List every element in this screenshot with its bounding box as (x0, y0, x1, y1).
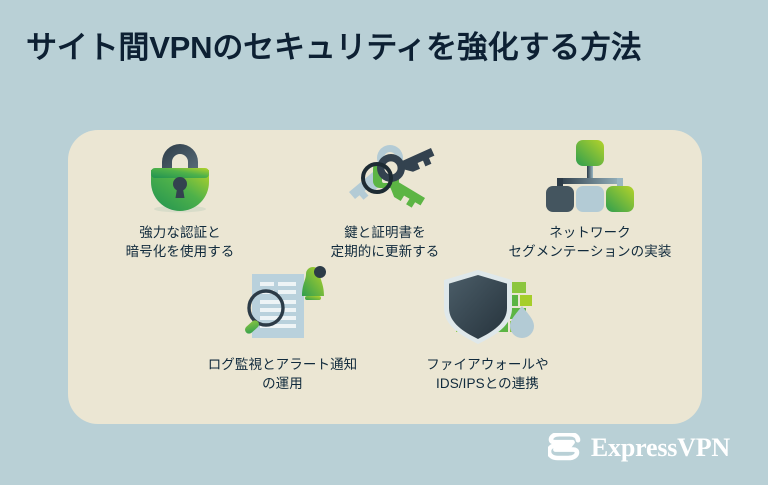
log-monitoring-alert-icon (228, 272, 338, 346)
tip-item-strong-auth: 強力な認証と 暗号化を使用する (78, 140, 283, 261)
network-segmentation-icon (535, 140, 645, 214)
tip-item-firewall-ids-ips: ファイアウォールや IDS/IPSとの連携 (385, 272, 590, 393)
tips-row-bottom: ログ監視とアラート通知 の運用 (133, 272, 637, 393)
expressvpn-logo-icon (548, 433, 582, 463)
tip-item-network-segmentation: ネットワーク セグメンテーションの実装 (488, 140, 693, 261)
page-title: サイト間VPNのセキュリティを強化する方法 (26, 26, 742, 70)
tip-label: ネットワーク セグメンテーションの実装 (509, 223, 672, 261)
tip-item-rotate-keys: 鍵と証明書を 定期的に更新する (283, 140, 488, 261)
brand-wordmark: ExpressVPN (591, 435, 730, 461)
shield-firewall-icon (433, 272, 543, 346)
tip-item-log-monitoring: ログ監視とアラート通知 の運用 (180, 272, 385, 393)
padlock-icon (125, 140, 235, 214)
tip-label: 強力な認証と 暗号化を使用する (126, 223, 235, 261)
tips-row-top: 強力な認証と 暗号化を使用する (68, 140, 702, 261)
keys-icon (330, 140, 440, 214)
expressvpn-logo: ExpressVPN (548, 431, 730, 465)
tip-label: 鍵と証明書を 定期的に更新する (331, 223, 440, 261)
tip-label: ログ監視とアラート通知 の運用 (208, 355, 358, 393)
tip-label: ファイアウォールや IDS/IPSとの連携 (426, 355, 548, 393)
